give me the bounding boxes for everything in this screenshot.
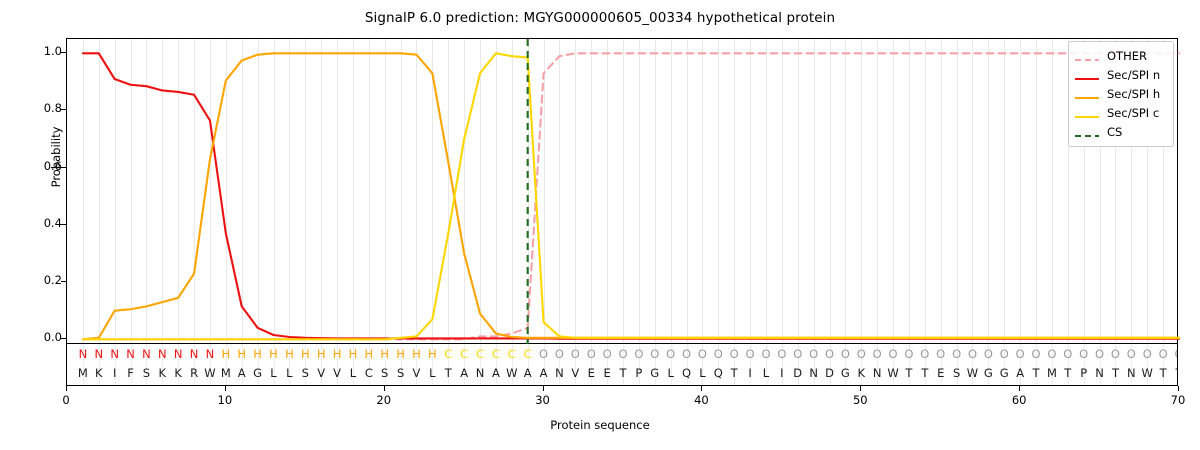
annotation-letter: H <box>313 345 329 363</box>
residue-letter: S <box>138 364 154 382</box>
legend-item[interactable]: Sec/SPI n <box>1074 65 1168 84</box>
annotation-letter: O <box>853 345 869 363</box>
residue-letter: G <box>996 364 1012 382</box>
annotation-letter: O <box>1012 345 1028 363</box>
residue-letter: T <box>440 364 456 382</box>
annotation-letter: N <box>123 345 139 363</box>
residue-letter: M <box>75 364 91 382</box>
residue-letter: L <box>281 364 297 382</box>
legend-label: CS <box>1107 125 1122 139</box>
annotation-letter: O <box>837 345 853 363</box>
x-tick-label: 20 <box>364 393 404 407</box>
annotation-letter: O <box>1171 345 1178 363</box>
residue-letter: I <box>774 364 790 382</box>
x-tick-label: 0 <box>46 393 86 407</box>
x-tick-label: 40 <box>681 393 721 407</box>
annotation-letter: O <box>822 345 838 363</box>
legend-label: Sec/SPI c <box>1107 106 1159 120</box>
annotation-letter: O <box>1060 345 1076 363</box>
residue-letter: L <box>424 364 440 382</box>
x-tick-label: 50 <box>840 393 880 407</box>
residue-letter: T <box>901 364 917 382</box>
x-tick <box>384 386 385 391</box>
residue-letter: P <box>631 364 647 382</box>
signalp-prediction-figure: SignalP 6.0 prediction: MGYG000000605_00… <box>0 0 1200 450</box>
x-tick <box>1178 386 1179 391</box>
residue-letter: V <box>567 364 583 382</box>
annotation-letter: C <box>472 345 488 363</box>
legend-swatch <box>1074 88 1100 99</box>
annotation-letter: H <box>377 345 393 363</box>
annotation-letter: N <box>186 345 202 363</box>
residue-letter: L <box>694 364 710 382</box>
residue-letter: W <box>964 364 980 382</box>
residue-letter: Q <box>710 364 726 382</box>
annotation-row: NNNNNNNNNHHHHHHHHHHHHHHCCCCCCOOOOOOOOOOO… <box>67 345 1177 363</box>
residue-letter: S <box>377 364 393 382</box>
residue-letter: E <box>583 364 599 382</box>
annotation-letter: O <box>1139 345 1155 363</box>
residue-letter: C <box>361 364 377 382</box>
residue-letter: A <box>520 364 536 382</box>
residue-letter: N <box>551 364 567 382</box>
annotation-letter: O <box>901 345 917 363</box>
annotation-letter: C <box>520 345 536 363</box>
annotation-letter: H <box>297 345 313 363</box>
annotation-letter: N <box>107 345 123 363</box>
residue-letter: K <box>170 364 186 382</box>
annotation-letter: C <box>440 345 456 363</box>
residue-letter: L <box>758 364 774 382</box>
annotation-letter: O <box>933 345 949 363</box>
legend-swatch <box>1074 69 1100 80</box>
x-tick <box>701 386 702 391</box>
annotation-letter: O <box>710 345 726 363</box>
residue-letter: M <box>218 364 234 382</box>
annotation-letter: C <box>488 345 504 363</box>
annotation-letter: O <box>742 345 758 363</box>
series-line-other <box>83 53 1179 339</box>
residue-letter: A <box>1012 364 1028 382</box>
annotation-letter: O <box>1155 345 1171 363</box>
residue-letter: K <box>91 364 107 382</box>
residue-letter: T <box>1060 364 1076 382</box>
annotation-letter: H <box>281 345 297 363</box>
residue-letter: N <box>1092 364 1108 382</box>
residue-letter: I <box>107 364 123 382</box>
annotation-letter: H <box>266 345 282 363</box>
legend-label: Sec/SPI h <box>1107 87 1160 101</box>
residue-letter: T <box>615 364 631 382</box>
annotation-letter: C <box>504 345 520 363</box>
residue-letter: T <box>1155 364 1171 382</box>
residue-letter: G <box>250 364 266 382</box>
residue-letter: L <box>345 364 361 382</box>
residue-letter: T <box>726 364 742 382</box>
x-axis-line <box>66 385 1178 386</box>
series-line-sec-spi-h <box>83 53 1179 339</box>
residue-letter: W <box>504 364 520 382</box>
residue-letter: N <box>1123 364 1139 382</box>
legend-item[interactable]: Sec/SPI c <box>1074 103 1168 122</box>
y-tick-label: 0.2 <box>22 273 62 287</box>
annotation-letter: N <box>91 345 107 363</box>
annotation-letter: O <box>996 345 1012 363</box>
annotation-letter: O <box>869 345 885 363</box>
residue-letter: E <box>933 364 949 382</box>
annotation-letter: O <box>615 345 631 363</box>
x-tick <box>543 386 544 391</box>
legend-item[interactable]: Sec/SPI h <box>1074 84 1168 103</box>
residue-letter: A <box>456 364 472 382</box>
annotation-letter: N <box>202 345 218 363</box>
annotation-letter: O <box>583 345 599 363</box>
annotation-letter: O <box>551 345 567 363</box>
residue-letter: T <box>1171 364 1178 382</box>
annotation-letter: O <box>679 345 695 363</box>
legend-item[interactable]: CS <box>1074 122 1168 141</box>
x-tick <box>860 386 861 391</box>
residue-letter: Q <box>679 364 695 382</box>
chart-title: SignalP 6.0 prediction: MGYG000000605_00… <box>0 10 1200 26</box>
y-tick-label: 1.0 <box>22 44 62 58</box>
annotation-letter: N <box>75 345 91 363</box>
residue-letter: S <box>949 364 965 382</box>
annotation-letter: O <box>1076 345 1092 363</box>
annotation-letter: O <box>647 345 663 363</box>
sequence-band: NNNNNNNNNHHHHHHHHHHHHHHCCCCCCOOOOOOOOOOO… <box>66 344 1178 386</box>
series-line-sec-spi-n <box>83 53 1179 338</box>
residue-letter: W <box>885 364 901 382</box>
residue-letter: D <box>790 364 806 382</box>
legend-swatch <box>1074 50 1100 61</box>
annotation-letter: O <box>694 345 710 363</box>
annotation-letter: N <box>154 345 170 363</box>
x-tick-label: 10 <box>205 393 245 407</box>
residue-letter: V <box>408 364 424 382</box>
annotation-letter: O <box>536 345 552 363</box>
annotation-letter: O <box>1092 345 1108 363</box>
annotation-letter: H <box>408 345 424 363</box>
residue-letter: A <box>536 364 552 382</box>
residue-letter: L <box>663 364 679 382</box>
annotation-letter: C <box>456 345 472 363</box>
residue-letter: E <box>599 364 615 382</box>
residue-letter: T <box>1107 364 1123 382</box>
residue-letter: G <box>837 364 853 382</box>
residue-letter: N <box>806 364 822 382</box>
annotation-letter: O <box>1044 345 1060 363</box>
annotation-letter: O <box>726 345 742 363</box>
residue-row: MKIFSKKRWMAGLLSVVLCSSVLTANAWAANVEETPGLQL… <box>67 364 1177 382</box>
annotation-letter: H <box>393 345 409 363</box>
residue-letter: T <box>1028 364 1044 382</box>
residue-letter: K <box>154 364 170 382</box>
residue-letter: G <box>647 364 663 382</box>
annotation-letter: O <box>599 345 615 363</box>
annotation-letter: O <box>774 345 790 363</box>
annotation-letter: O <box>1028 345 1044 363</box>
annotation-letter: O <box>949 345 965 363</box>
y-axis-label: Probability <box>49 77 63 237</box>
annotation-letter: H <box>218 345 234 363</box>
residue-letter: W <box>1139 364 1155 382</box>
annotation-letter: O <box>631 345 647 363</box>
residue-letter: T <box>917 364 933 382</box>
x-tick <box>225 386 226 391</box>
x-tick-label: 30 <box>523 393 563 407</box>
annotation-letter: N <box>138 345 154 363</box>
annotation-letter: O <box>806 345 822 363</box>
annotation-letter: O <box>980 345 996 363</box>
legend-label: Sec/SPI n <box>1107 68 1160 82</box>
residue-letter: G <box>980 364 996 382</box>
annotation-letter: N <box>170 345 186 363</box>
annotation-letter: O <box>1123 345 1139 363</box>
annotation-letter: O <box>917 345 933 363</box>
x-tick <box>1019 386 1020 391</box>
annotation-letter: O <box>964 345 980 363</box>
residue-letter: P <box>1076 364 1092 382</box>
series-line-sec-spi-c <box>83 53 1179 339</box>
residue-letter: D <box>822 364 838 382</box>
annotation-letter: O <box>1107 345 1123 363</box>
annotation-letter: O <box>758 345 774 363</box>
annotation-letter: H <box>361 345 377 363</box>
annotation-letter: H <box>424 345 440 363</box>
residue-letter: V <box>313 364 329 382</box>
residue-letter: F <box>123 364 139 382</box>
annotation-letter: H <box>329 345 345 363</box>
annotation-letter: H <box>250 345 266 363</box>
residue-letter: N <box>472 364 488 382</box>
x-axis-label: Protein sequence <box>0 418 1200 432</box>
legend: OTHERSec/SPI nSec/SPI hSec/SPI cCS <box>1068 41 1174 147</box>
annotation-letter: H <box>345 345 361 363</box>
residue-letter: S <box>393 364 409 382</box>
annotation-letter: O <box>885 345 901 363</box>
y-tick-label: 0.0 <box>22 330 62 344</box>
prediction-curves <box>67 39 1179 345</box>
x-tick-label: 60 <box>999 393 1039 407</box>
residue-letter: I <box>742 364 758 382</box>
x-tick <box>66 386 67 391</box>
residue-letter: W <box>202 364 218 382</box>
legend-item[interactable]: OTHER <box>1074 46 1168 65</box>
residue-letter: L <box>266 364 282 382</box>
legend-label: OTHER <box>1107 49 1147 63</box>
legend-swatch <box>1074 126 1100 137</box>
x-tick-label: 70 <box>1158 393 1198 407</box>
annotation-letter: H <box>234 345 250 363</box>
residue-letter: M <box>1044 364 1060 382</box>
residue-letter: N <box>869 364 885 382</box>
legend-swatch <box>1074 107 1100 118</box>
residue-letter: R <box>186 364 202 382</box>
annotation-letter: O <box>790 345 806 363</box>
residue-letter: K <box>853 364 869 382</box>
residue-letter: V <box>329 364 345 382</box>
residue-letter: A <box>234 364 250 382</box>
plot-area <box>66 38 1178 344</box>
residue-letter: S <box>297 364 313 382</box>
residue-letter: A <box>488 364 504 382</box>
annotation-letter: O <box>663 345 679 363</box>
annotation-letter: O <box>567 345 583 363</box>
